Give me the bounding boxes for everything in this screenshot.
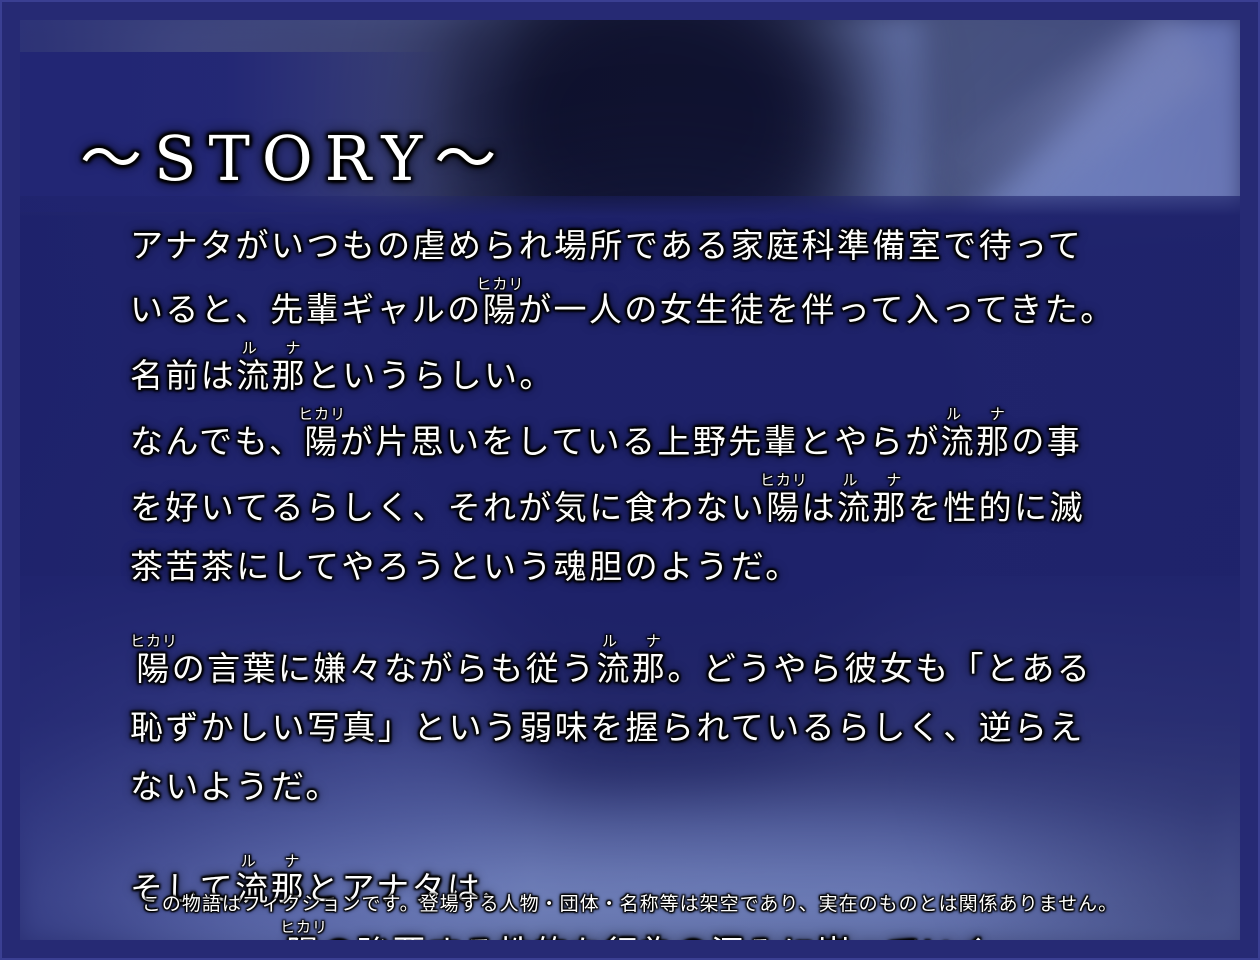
ruby-annotated-word: 流那ル ナ [837, 488, 908, 527]
story-text-run: ないようだ。 [130, 767, 341, 806]
disclaimer-text: この物語はフィクションです。登場する人物・団体・名称等は架空であり、実在のものと… [20, 889, 1240, 916]
ruby-reading: ヒカリ [298, 405, 346, 423]
ruby-reading: ヒカリ [476, 275, 524, 293]
story-text-run: の事 [1011, 422, 1082, 461]
ruby-annotated-word: 陽ヒカリ [766, 488, 801, 527]
story-line: 陽ヒカリの強要する性的な行為の深みに嵌っていく———— [130, 918, 1218, 960]
ruby-annotated-word: 流那ル ナ [236, 356, 307, 395]
story-line: 恥ずかしい写真」という弱味を握られているらしく、逆らえ [130, 698, 1218, 757]
story-text-run: 茶苦茶にしてやろうという魂胆のようだ。 [130, 547, 801, 586]
story-line: いると、先輩ギャルの陽ヒカリが一人の女生徒を伴って入ってきた。 [130, 275, 1218, 339]
story-line: 陽ヒカリの言葉に嫌々ながらも従う流那ル ナ。どうやら彼女も「とある [130, 632, 1218, 698]
story-line: なんでも、陽ヒカリが片思いをしている上野先輩とやらが流那ル ナの事 [130, 405, 1218, 471]
story-text-run: の言葉に嫌々ながらも従う [172, 649, 597, 688]
story-text: アナタがいつもの虐められ場所である家庭科準備室で待っていると、先輩ギャルの陽ヒカ… [20, 216, 1240, 960]
story-text-run: なんでも、 [130, 422, 304, 461]
story-text-run: 。どうやら彼女も「とある [667, 649, 1092, 688]
para-1: アナタがいつもの虐められ場所である家庭科準備室で待っていると、先輩ギャルの陽ヒカ… [20, 216, 1240, 405]
ruby-reading: ル ナ [597, 632, 668, 650]
story-text-run: アナタがいつもの虐められ場所である家庭科準備室で待って [130, 226, 1083, 265]
ruby-annotated-word: 流那ル ナ [941, 422, 1012, 461]
story-line: 茶苦茶にしてやろうという魂胆のようだ。 [130, 537, 1218, 596]
story-line: 名前は流那ル ナというらしい。 [130, 339, 1218, 405]
content-layer: 〜STORY〜 アナタがいつもの虐められ場所である家庭科準備室で待っていると、先… [20, 20, 1240, 940]
ruby-annotated-word: 陽ヒカリ [130, 649, 172, 688]
story-line: ないようだ。 [130, 757, 1218, 816]
story-line: を好いてるらしく、それが気に食わない陽ヒカリは流那ル ナを性的に滅 [130, 471, 1218, 537]
page-title: 〜STORY〜 [80, 108, 508, 198]
ruby-reading: ヒカリ [280, 918, 328, 936]
story-text-run: を性的に滅 [908, 488, 1085, 527]
ruby-reading: ル ナ [941, 405, 1012, 423]
ruby-annotated-word: 流那ル ナ [597, 649, 668, 688]
ruby-reading: ル ナ [837, 471, 908, 489]
story-text-run: の強要する性的な行為の深みに嵌っていく [322, 933, 993, 960]
story-page: 〜STORY〜 アナタがいつもの虐められ場所である家庭科準備室で待っていると、先… [0, 0, 1260, 960]
ruby-reading: ル ナ [236, 339, 307, 357]
story-text-run: 名前は [130, 356, 236, 395]
story-text-run: は [802, 488, 837, 527]
story-text-run: が一人の女生徒を伴って入ってきた。 [518, 290, 1116, 329]
trailing-dash: ———— [993, 933, 1117, 960]
ruby-reading: ヒカリ [130, 632, 178, 650]
story-line: アナタがいつもの虐められ場所である家庭科準備室で待って [130, 216, 1218, 275]
ruby-annotated-word: 陽ヒカリ [483, 290, 518, 329]
ruby-annotated-word: 陽ヒカリ [280, 933, 322, 960]
story-text-run: というらしい。 [307, 356, 555, 395]
story-text-run: 恥ずかしい写真」という弱味を握られているらしく、逆らえ [130, 708, 1085, 747]
ruby-reading: ヒカリ [760, 471, 808, 489]
story-text-run: いると、先輩ギャルの [130, 290, 483, 329]
para-3: 陽ヒカリの言葉に嫌々ながらも従う流那ル ナ。どうやら彼女も「とある恥ずかしい写真… [20, 632, 1240, 816]
para-2: なんでも、陽ヒカリが片思いをしている上野先輩とやらが流那ル ナの事を好いてるらし… [20, 405, 1240, 596]
ruby-annotated-word: 陽ヒカリ [304, 422, 339, 461]
ruby-reading: ル ナ [235, 852, 306, 870]
story-text-run: を好いてるらしく、それが気に食わない [130, 488, 766, 527]
story-text-run: が片思いをしている上野先輩とやらが [340, 422, 941, 461]
